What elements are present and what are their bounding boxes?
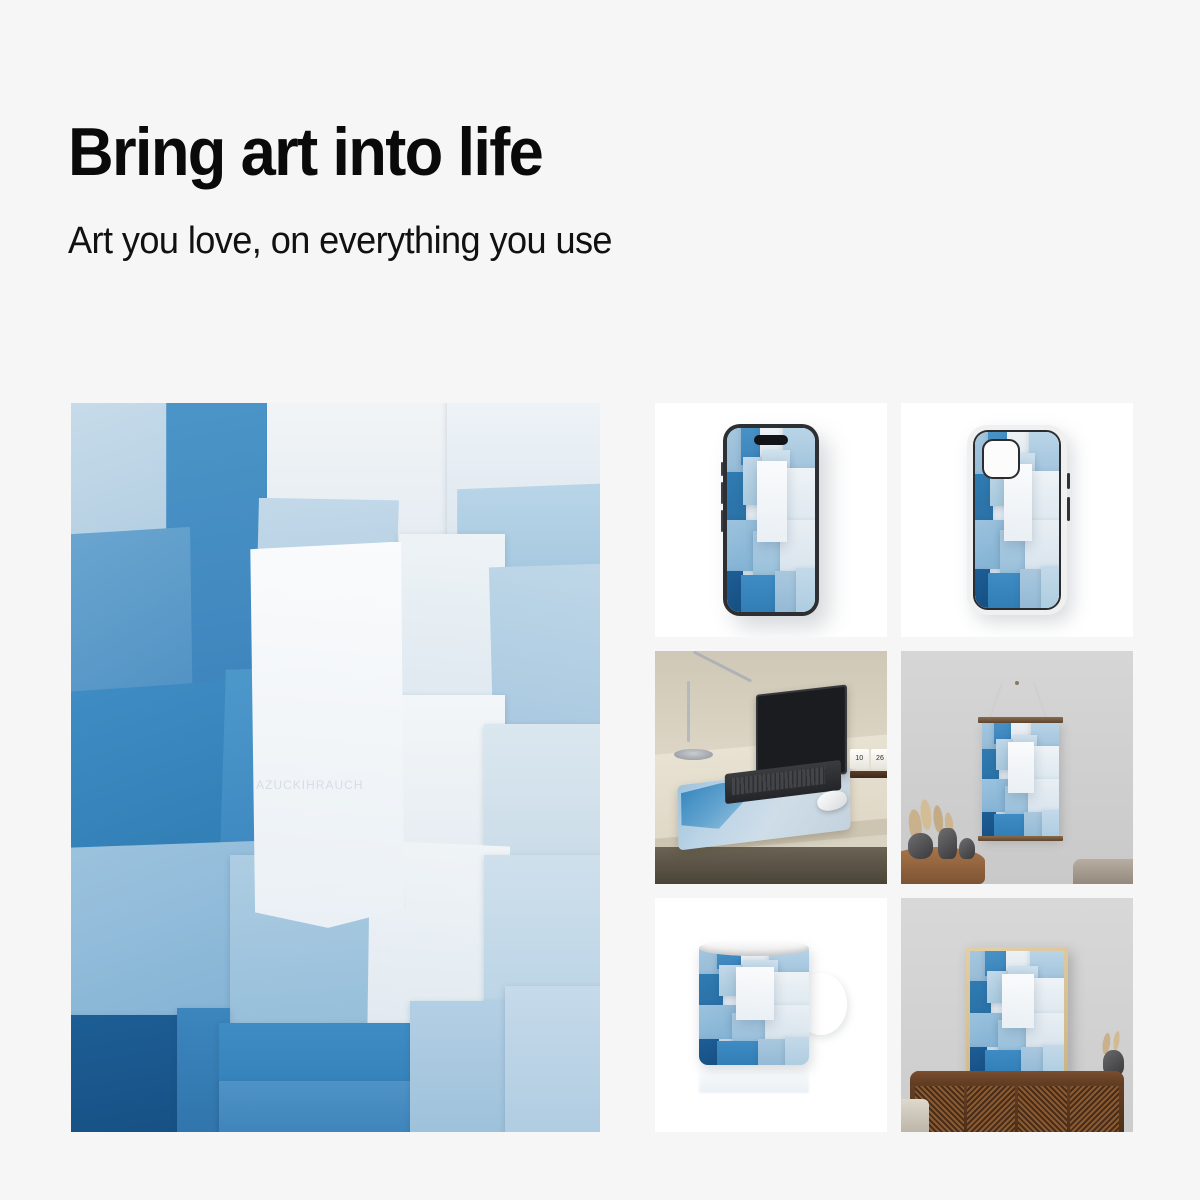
mug-body <box>699 945 809 1065</box>
framed-print-product <box>966 947 1068 1078</box>
product-tile-desk-mat[interactable]: 10 26 <box>655 651 887 885</box>
desk-underside <box>655 847 887 884</box>
artwork-watermark: AZUCKIHRAUCH <box>256 778 363 792</box>
sideboard-door <box>1018 1086 1067 1132</box>
phone-volume-down-button <box>721 510 723 532</box>
wall-hook-icon <box>1015 681 1019 685</box>
sideboard-furniture <box>910 1071 1123 1132</box>
poster-rail-top <box>978 717 1063 723</box>
case-volume-down-button <box>1067 497 1070 521</box>
mug-reflection <box>699 1067 809 1093</box>
phone-wallpaper-art <box>727 428 815 612</box>
chair <box>901 1099 929 1132</box>
desk-scene: 10 26 <box>655 651 887 885</box>
camera-cutout-icon <box>982 439 1020 479</box>
vase-large <box>908 833 934 859</box>
product-mockup-grid: 10 26 <box>655 403 1133 1132</box>
poster-rail-bottom <box>978 836 1063 842</box>
hanging-poster-art <box>982 721 1059 838</box>
mug-rim <box>699 940 809 956</box>
mug-art <box>699 945 809 1065</box>
sideboard-room-scene <box>901 898 1133 1132</box>
hero-header: Bring art into life Art you love, on eve… <box>68 118 968 262</box>
laptop-keyboard <box>731 768 824 796</box>
mug-product <box>691 945 851 1075</box>
product-tile-mug[interactable] <box>655 898 887 1132</box>
page-title: Bring art into life <box>68 118 905 186</box>
product-tile-hanging-canvas[interactable] <box>901 651 1133 885</box>
sideboard-door <box>1070 1086 1119 1132</box>
framed-print-art <box>970 951 1064 1074</box>
phone-mute-switch <box>721 462 723 476</box>
vase-medium <box>938 828 957 858</box>
page-subtitle: Art you love, on everything you use <box>68 222 923 262</box>
hanging-poster-product <box>982 721 1059 838</box>
content-area: AZUCKIHRAUCH <box>71 403 1133 1132</box>
calendar-day-value: 26 <box>871 749 887 769</box>
dynamic-island-icon <box>754 435 788 445</box>
calendar-base <box>850 771 887 778</box>
case-volume-up-button <box>1067 473 1070 489</box>
flip-calendar: 10 26 <box>850 749 887 777</box>
calendar-month-value: 10 <box>850 749 869 769</box>
phone-case-back <box>973 430 1061 610</box>
sideboard-top <box>910 1071 1123 1084</box>
living-room-scene <box>901 651 1133 885</box>
product-tile-phone-case[interactable] <box>901 403 1133 637</box>
sideboard-doors <box>915 1086 1120 1132</box>
product-tile-phone-wallpaper[interactable] <box>655 403 887 637</box>
vase-small <box>959 838 975 859</box>
phone-screen <box>727 428 815 612</box>
phone-device <box>723 424 819 616</box>
sideboard-door <box>967 1086 1016 1132</box>
product-tile-framed-print[interactable] <box>901 898 1133 1132</box>
sofa <box>1073 859 1133 885</box>
framed-print-artwork <box>970 951 1064 1074</box>
phone-volume-up-button <box>721 482 723 504</box>
artwork-canvas <box>71 403 600 1132</box>
artwork-hero-image[interactable]: AZUCKIHRAUCH <box>71 403 600 1132</box>
phone-case-device <box>967 425 1067 615</box>
